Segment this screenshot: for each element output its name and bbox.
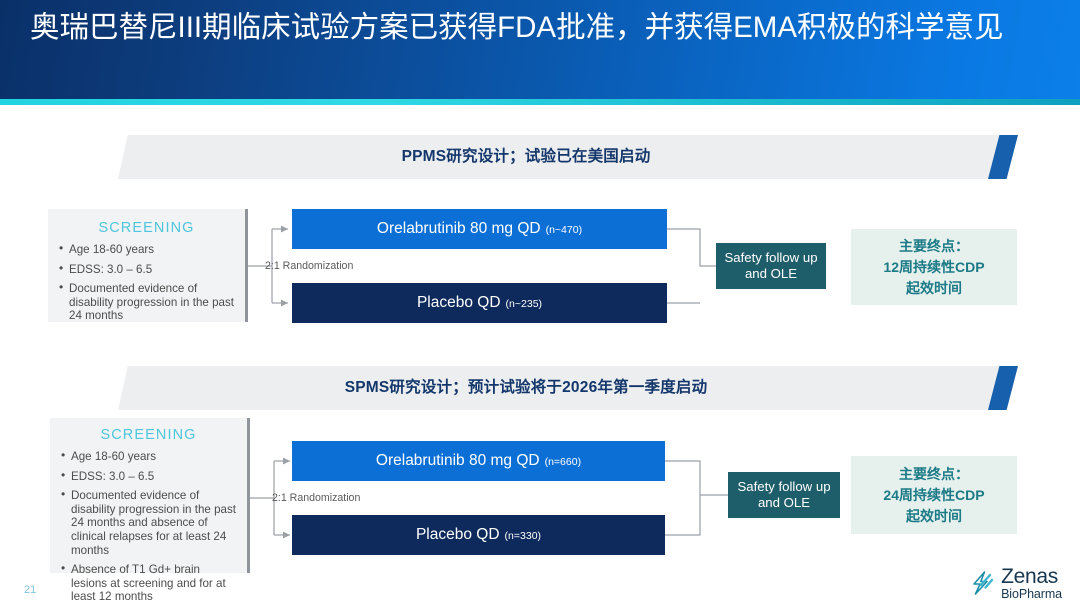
page-number: 21 — [24, 584, 36, 596]
slide-canvas: 奥瑞巴替尼III期临床试验方案已获得FDA批准，并获得EMA积极的科学意见 — [0, 0, 1080, 608]
ppms-arrow-active — [281, 226, 288, 233]
banner-accent-strip — [0, 99, 1080, 105]
list-item: EDSS: 3.0 – 6.5 — [60, 470, 237, 484]
logo-line-2: BioPharma — [1001, 588, 1062, 601]
arm-bar-ppms-treatment: Orelabrutinib 80 mg QD (n~470) — [292, 209, 667, 249]
spms-placebo-to-safety — [665, 495, 700, 535]
list-item: Absence of T1 Gd+ brain lesions at scree… — [60, 563, 237, 604]
screening-bullets-spms: Age 18-60 years EDSS: 3.0 – 6.5 Document… — [60, 450, 237, 604]
section-header-spms-label: SPMS研究设计；预计试验将于2026年第一季度启动 — [118, 366, 1000, 410]
primary-endpoint-box-ppms: 主要终点： 12周持续性CDP 起效时间 — [851, 229, 1017, 305]
arm-label: Orelabrutinib 80 mg QD — [376, 452, 540, 470]
screening-title-spms: SCREENING — [60, 427, 237, 443]
arm-n-count: (n=660) — [545, 456, 581, 468]
section-header-ppms-label: PPMS研究设计；试验已在美国启动 — [118, 135, 1000, 179]
logo-line-1: Zenas — [1001, 566, 1062, 587]
arm-label: Placebo QD — [417, 294, 501, 312]
safety-followup-box-spms: Safety follow up and OLE — [728, 472, 840, 518]
arm-label: Placebo QD — [416, 526, 500, 544]
screening-title-ppms: SCREENING — [58, 220, 235, 236]
arm-label: Orelabrutinib 80 mg QD — [377, 220, 541, 238]
ppms-active-to-safety — [667, 229, 716, 266]
randomization-label-ppms: 2:1 Randomization — [265, 260, 353, 272]
safety-followup-box-ppms: Safety follow up and OLE — [716, 243, 826, 289]
list-item: Documented evidence of disability progre… — [58, 282, 235, 323]
zenas-biopharma-logo: Zenas BioPharma — [970, 566, 1062, 601]
section-header-ppms: PPMS研究设计；试验已在美国启动 — [118, 135, 1000, 179]
spms-active-to-safety — [665, 461, 728, 495]
randomization-label-spms: 2:1 Randomization — [272, 492, 360, 504]
spms-arrow-active — [283, 458, 290, 465]
screening-panel-ppms: SCREENING Age 18-60 years EDSS: 3.0 – 6.… — [48, 209, 248, 322]
arm-n-count: (n=330) — [505, 530, 541, 542]
screening-bullets-ppms: Age 18-60 years EDSS: 3.0 – 6.5 Document… — [58, 243, 235, 323]
list-item: Documented evidence of disability progre… — [60, 489, 237, 557]
list-item: EDSS: 3.0 – 6.5 — [58, 263, 235, 277]
lightning-bolt-icon — [970, 569, 996, 597]
logo-wordmark: Zenas BioPharma — [1001, 566, 1062, 601]
arm-bar-ppms-placebo: Placebo QD (n~235) — [292, 283, 667, 323]
section-header-spms: SPMS研究设计；预计试验将于2026年第一季度启动 — [118, 366, 1000, 410]
arm-n-count: (n~470) — [546, 224, 582, 236]
page-title: 奥瑞巴替尼III期临床试验方案已获得FDA批准，并获得EMA积极的科学意见 — [30, 8, 1040, 48]
screening-panel-spms: SCREENING Age 18-60 years EDSS: 3.0 – 6.… — [50, 418, 250, 573]
list-item: Age 18-60 years — [60, 450, 237, 464]
spms-arrow-placebo — [283, 532, 290, 539]
arm-n-count: (n~235) — [506, 298, 542, 310]
arm-bar-spms-placebo: Placebo QD (n=330) — [292, 515, 665, 555]
primary-endpoint-box-spms: 主要终点： 24周持续性CDP 起效时间 — [851, 456, 1017, 534]
ppms-arrow-placebo — [281, 300, 288, 307]
arm-bar-spms-treatment: Orelabrutinib 80 mg QD (n=660) — [292, 441, 665, 481]
list-item: Age 18-60 years — [58, 243, 235, 257]
